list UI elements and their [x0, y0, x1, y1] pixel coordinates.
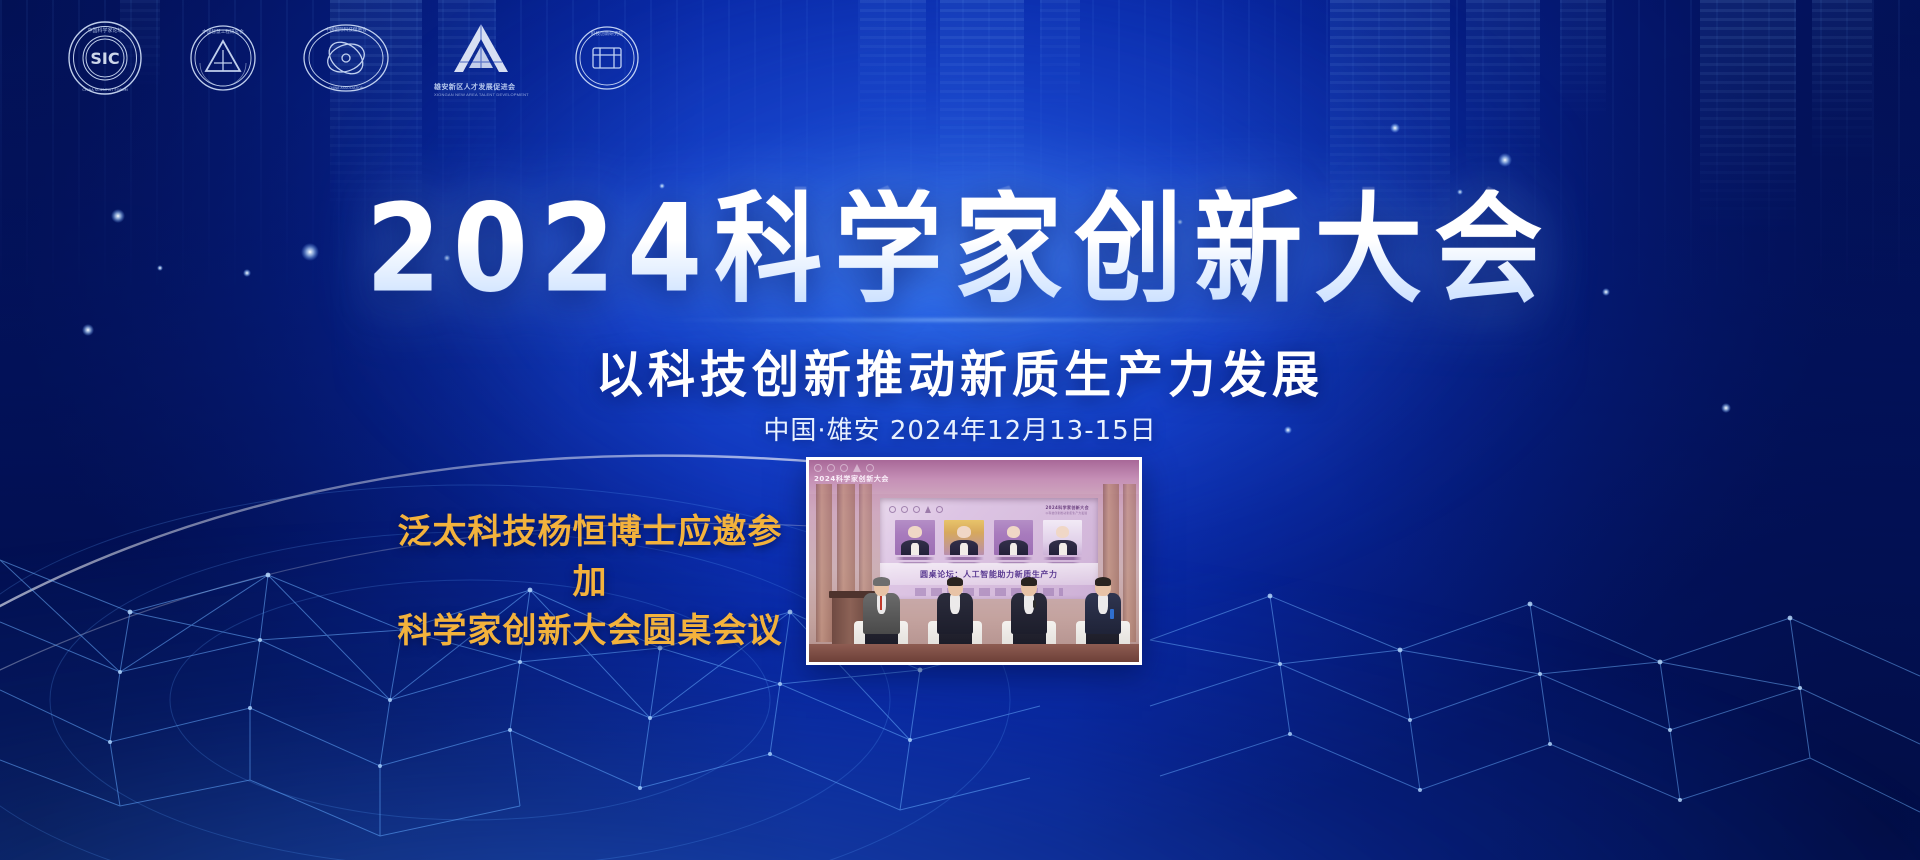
- event-banner: SIC 中国科学家论坛 CHINA SCIENTIST FORUM 中国: [0, 0, 1920, 860]
- event-photo: 2024科学家创新大会 2024科学家创新大会 以科技创新推动新质生产力发展: [806, 457, 1142, 665]
- caption-line-1: 泛太科技杨恒博士应邀参加: [385, 508, 795, 607]
- headline-block: 2024科学家创新大会: [0, 196, 1920, 304]
- logo-institute-round-seal: 科技创新研究院: [573, 24, 641, 92]
- screen-icon: [936, 506, 943, 513]
- svg-text:CHINA SCIENTIST FORUM: CHINA SCIENTIST FORUM: [82, 88, 127, 92]
- caption-line-2: 科学家创新大会圆桌会议: [385, 607, 795, 657]
- logo-triangle-shield-seal: 中国智慧工程研究会: [188, 23, 258, 93]
- svg-text:中国智慧工程研究会: 中国智慧工程研究会: [202, 28, 244, 35]
- screen-portrait: [895, 520, 934, 568]
- svg-text:SIC: SIC: [90, 49, 119, 68]
- screen-portrait: [994, 520, 1033, 568]
- screen-icon: [901, 506, 908, 513]
- page-title: 2024科学家创新大会: [356, 190, 1565, 311]
- logo-sic-circular-seal: SIC 中国科学家论坛 CHINA SCIENTIST FORUM: [66, 19, 144, 97]
- photo-microphone: [1033, 600, 1036, 608]
- screen-portrait-row: [895, 520, 1082, 568]
- screen-icon: [889, 506, 896, 513]
- logo-delta-caption: 雄安新区人才发展促进会 XIONGAN NEW AREA TALENT DEVE…: [434, 82, 529, 97]
- photo-top-banner: 2024科学家创新大会: [814, 464, 946, 486]
- svg-text:中国国际科技促进会: 中国国际科技促进会: [325, 26, 367, 33]
- photo-floor: [809, 644, 1139, 662]
- photo-column: [816, 484, 833, 642]
- svg-text:科技创新研究院: 科技创新研究院: [591, 30, 624, 37]
- screen-triangle-icon: [925, 506, 931, 513]
- screen-sponsor-icons: [889, 506, 943, 513]
- event-caption: 泛太科技杨恒博士应邀参加 科学家创新大会圆桌会议: [385, 508, 795, 657]
- screen-title: 2024科学家创新大会 以科技创新推动新质生产力发展: [1045, 505, 1089, 515]
- organizer-logo-row: SIC 中国科学家论坛 CHINA SCIENTIST FORUM 中国: [66, 18, 641, 97]
- svg-text:中国科学家论坛: 中国科学家论坛: [87, 27, 122, 34]
- event-date-location: 中国·雄安 2024年12月13-15日: [0, 410, 1920, 447]
- screen-portrait: [1043, 520, 1082, 568]
- photo-banner-text: 2024科学家创新大会: [814, 474, 946, 484]
- title-underglow: [660, 318, 1260, 322]
- logo-atom-oval-seal: 中国国际科技促进会 CHINA ASSOCIATION: [302, 22, 390, 94]
- logo-delta-triangle-mark: 雄安新区人才发展促进会 XIONGAN NEW AREA TALENT DEVE…: [434, 18, 529, 97]
- page-subtitle: 以科技创新推动新质生产力发展: [0, 334, 1920, 407]
- screen-icon: [913, 506, 920, 513]
- screen-header: 2024科学家创新大会 以科技创新推动新质生产力发展: [889, 503, 1089, 516]
- svg-text:CHINA ASSOCIATION: CHINA ASSOCIATION: [329, 86, 364, 90]
- screen-portrait: [944, 520, 983, 568]
